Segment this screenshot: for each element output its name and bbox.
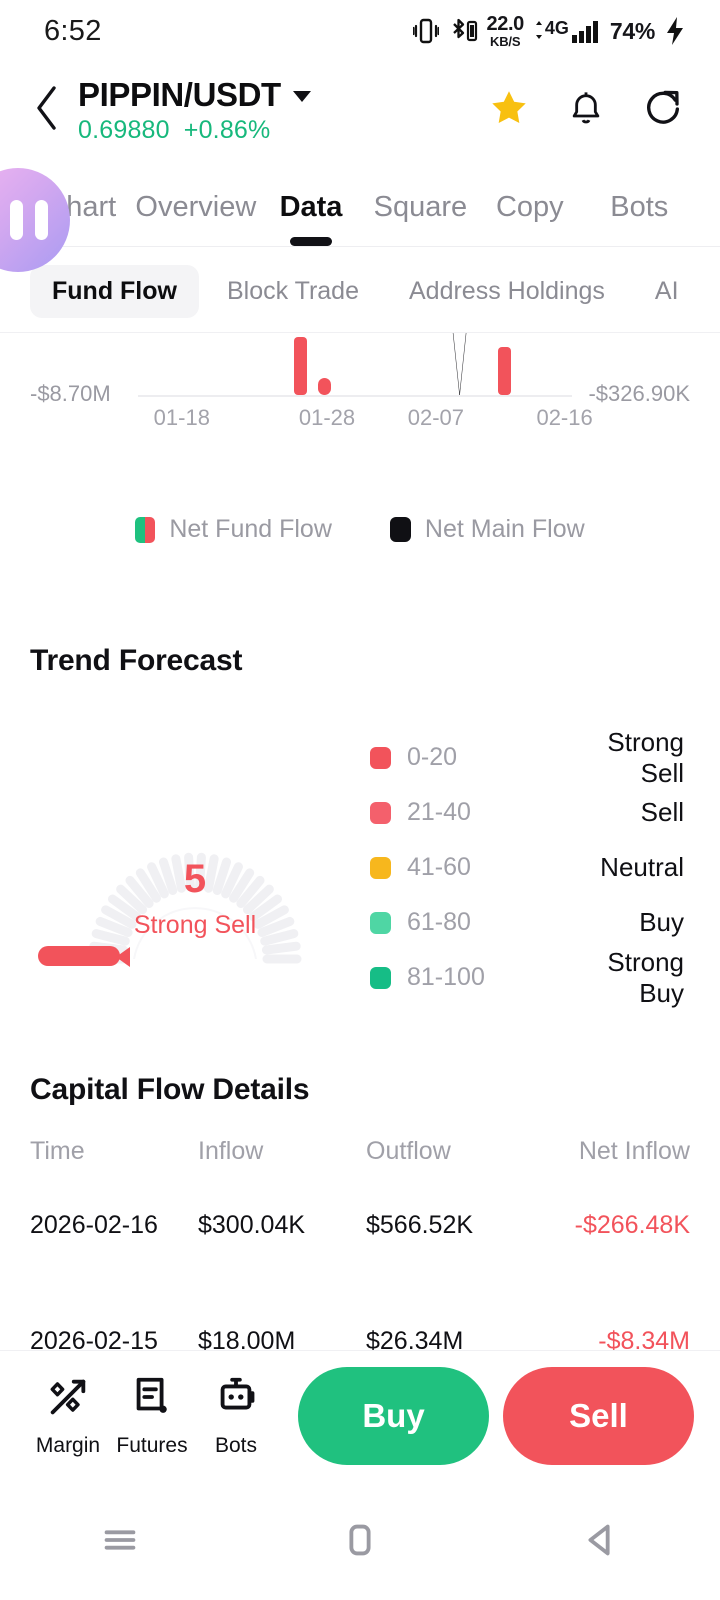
trend-range: 21-40 xyxy=(407,798,471,827)
network-type-label: 4G xyxy=(545,18,569,39)
quick-action-bots[interactable]: Bots xyxy=(194,1374,278,1458)
gauge-score: 5 xyxy=(30,859,360,899)
chevron-down-icon[interactable] xyxy=(293,91,311,102)
tab-bots[interactable]: Bots xyxy=(585,191,694,230)
main-tabs: Chart Overview Data Square Copy Bots xyxy=(0,158,720,230)
share-icon[interactable] xyxy=(642,87,684,134)
back-button[interactable] xyxy=(22,84,72,137)
status-bar: 6:52 22.0 KB/S 4G xyxy=(0,0,720,62)
header-actions xyxy=(488,87,690,134)
trend-action: Strong Buy xyxy=(560,947,690,1009)
quick-action-futures[interactable]: Futures xyxy=(110,1374,194,1458)
column-header-outflow: Outflow xyxy=(366,1137,490,1166)
table-row[interactable]: 2026-02-16 $300.04K $566.52K -$266.48K xyxy=(0,1194,720,1256)
color-swatch xyxy=(370,912,391,934)
quick-action-label: Bots xyxy=(215,1434,257,1458)
cell-net-inflow: -$266.48K xyxy=(490,1211,690,1240)
trend-legend-row: 0-20 Strong Sell xyxy=(370,730,690,785)
trend-action: Buy xyxy=(560,907,690,938)
trend-action: Sell xyxy=(560,797,690,828)
gauge-verdict: Strong Sell xyxy=(30,911,360,940)
column-header-net-inflow: Net Inflow xyxy=(490,1137,690,1166)
tab-label: Copy xyxy=(496,191,564,223)
robot-icon xyxy=(213,1374,259,1425)
page-header: PIPPIN/USDT 0.69880 +0.86% xyxy=(0,62,720,158)
trend-legend-row: 61-80 Buy xyxy=(370,895,690,950)
trend-action: Neutral xyxy=(560,852,690,883)
subtab-block-trade[interactable]: Block Trade xyxy=(205,265,381,318)
menu-icon[interactable] xyxy=(65,1517,175,1563)
tab-data[interactable]: Data xyxy=(256,191,365,230)
cell-inflow: $300.04K xyxy=(198,1211,366,1240)
fund-flow-chart[interactable]: -$8.70M -$326.90K 01-18 01-28 02-07 02-1… xyxy=(0,333,720,453)
trend-legend: 0-20 Strong Sell 21-40 Sell 41-60 Neutra… xyxy=(360,730,690,1005)
capital-flow-header: Time Inflow Outflow Net Inflow xyxy=(0,1137,720,1166)
trend-range: 41-60 xyxy=(407,853,471,882)
cell-time: 2026-02-16 xyxy=(30,1211,198,1240)
network-speed-value: 22.0 xyxy=(487,14,524,34)
buy-button[interactable]: Buy xyxy=(298,1367,489,1465)
chart-axis-left-label: -$8.70M xyxy=(30,381,111,407)
cell-outflow: $566.52K xyxy=(366,1211,490,1240)
buy-button-label: Buy xyxy=(362,1397,424,1435)
trend-legend-row: 41-60 Neutral xyxy=(370,840,690,895)
futures-icon xyxy=(129,1374,175,1425)
trend-range: 81-100 xyxy=(407,963,485,992)
bell-icon[interactable] xyxy=(566,87,606,134)
battery-percent: 74% xyxy=(610,18,655,45)
trend-legend-row: 21-40 Sell xyxy=(370,785,690,840)
chevron-left-icon xyxy=(32,84,62,137)
subtab-fund-flow[interactable]: Fund Flow xyxy=(30,265,199,318)
trend-range: 61-80 xyxy=(407,908,471,937)
star-icon[interactable] xyxy=(488,87,530,134)
chart-x-axis: 01-18 01-28 02-07 02-16 xyxy=(30,405,690,439)
chart-x-tick: 01-28 xyxy=(299,405,355,431)
sell-button[interactable]: Sell xyxy=(503,1367,694,1465)
trend-legend-row: 81-100 Strong Buy xyxy=(370,950,690,1005)
column-header-inflow: Inflow xyxy=(198,1137,366,1166)
quick-action-label: Margin xyxy=(36,1434,100,1458)
status-indicators: 22.0 KB/S 4G 74% xyxy=(413,14,686,48)
tab-copy[interactable]: Copy xyxy=(475,191,584,230)
quick-action-label: Futures xyxy=(116,1434,187,1458)
legend-item-net-fund-flow: Net Fund Flow xyxy=(135,515,332,544)
legend-label: Net Fund Flow xyxy=(169,515,332,544)
back-icon[interactable] xyxy=(545,1517,655,1563)
network-speed-unit: KB/S xyxy=(490,35,520,48)
network-type: 4G xyxy=(533,18,601,44)
chart-main-flow-line xyxy=(138,333,572,399)
split-square-icon xyxy=(135,517,155,543)
tab-label: Data xyxy=(280,191,343,223)
trend-range: 0-20 xyxy=(407,743,457,772)
price-change: +0.86% xyxy=(184,116,271,145)
color-swatch xyxy=(370,857,391,879)
pair-info[interactable]: PIPPIN/USDT 0.69880 +0.86% xyxy=(72,76,488,145)
vibrate-icon xyxy=(413,16,439,46)
tab-square[interactable]: Square xyxy=(366,191,475,230)
chart-x-tick: 01-18 xyxy=(154,405,210,431)
home-icon[interactable] xyxy=(305,1517,415,1563)
tab-overview[interactable]: Overview xyxy=(135,191,256,230)
active-tab-indicator xyxy=(290,237,332,246)
system-navigation-bar xyxy=(0,1480,720,1600)
tab-label: Overview xyxy=(135,191,256,223)
solid-square-icon xyxy=(390,517,411,542)
sub-tabs: Fund Flow Block Trade Address Holdings A… xyxy=(0,247,720,332)
network-speed: 22.0 KB/S xyxy=(487,14,524,48)
trend-action: Strong Sell xyxy=(560,727,690,789)
bottom-action-bar: Margin Futures Bots Buy Sell xyxy=(0,1350,720,1480)
subtab-address-holdings[interactable]: Address Holdings xyxy=(387,265,627,318)
tab-label: Bots xyxy=(610,191,668,223)
legend-label: Net Main Flow xyxy=(425,515,585,544)
color-swatch xyxy=(370,802,391,824)
sell-button-label: Sell xyxy=(569,1397,628,1435)
bluetooth-icon xyxy=(448,16,478,46)
last-price: 0.69880 xyxy=(78,116,170,145)
capital-flow-title: Capital Flow Details xyxy=(0,1073,720,1107)
chart-legend: Net Fund Flow Net Main Flow xyxy=(0,515,720,544)
trend-gauge: 5 Strong Sell xyxy=(30,753,360,983)
subtab-ai[interactable]: AI xyxy=(633,265,701,318)
tab-label: Square xyxy=(374,191,468,223)
chart-axis-right-label: -$326.90K xyxy=(588,381,690,407)
status-time: 6:52 xyxy=(44,15,102,48)
page-title: PIPPIN/USDT xyxy=(78,76,281,114)
quick-action-margin[interactable]: Margin xyxy=(26,1374,110,1458)
gauge-tick xyxy=(266,946,296,950)
column-header-time: Time xyxy=(30,1137,198,1166)
margin-icon xyxy=(45,1374,91,1425)
trend-forecast-section: 5 Strong Sell 0-20 Strong Sell 21-40 Sel… xyxy=(0,730,720,1005)
gauge-readout: 5 Strong Sell xyxy=(30,859,360,940)
trend-forecast-title: Trend Forecast xyxy=(0,644,720,678)
legend-item-net-main-flow: Net Main Flow xyxy=(390,515,585,544)
color-swatch xyxy=(370,747,391,769)
chart-x-tick: 02-07 xyxy=(408,405,464,431)
color-swatch xyxy=(370,967,391,989)
pause-icon xyxy=(0,200,48,240)
chart-x-tick: 02-16 xyxy=(536,405,592,431)
charging-bolt-icon xyxy=(664,16,686,46)
